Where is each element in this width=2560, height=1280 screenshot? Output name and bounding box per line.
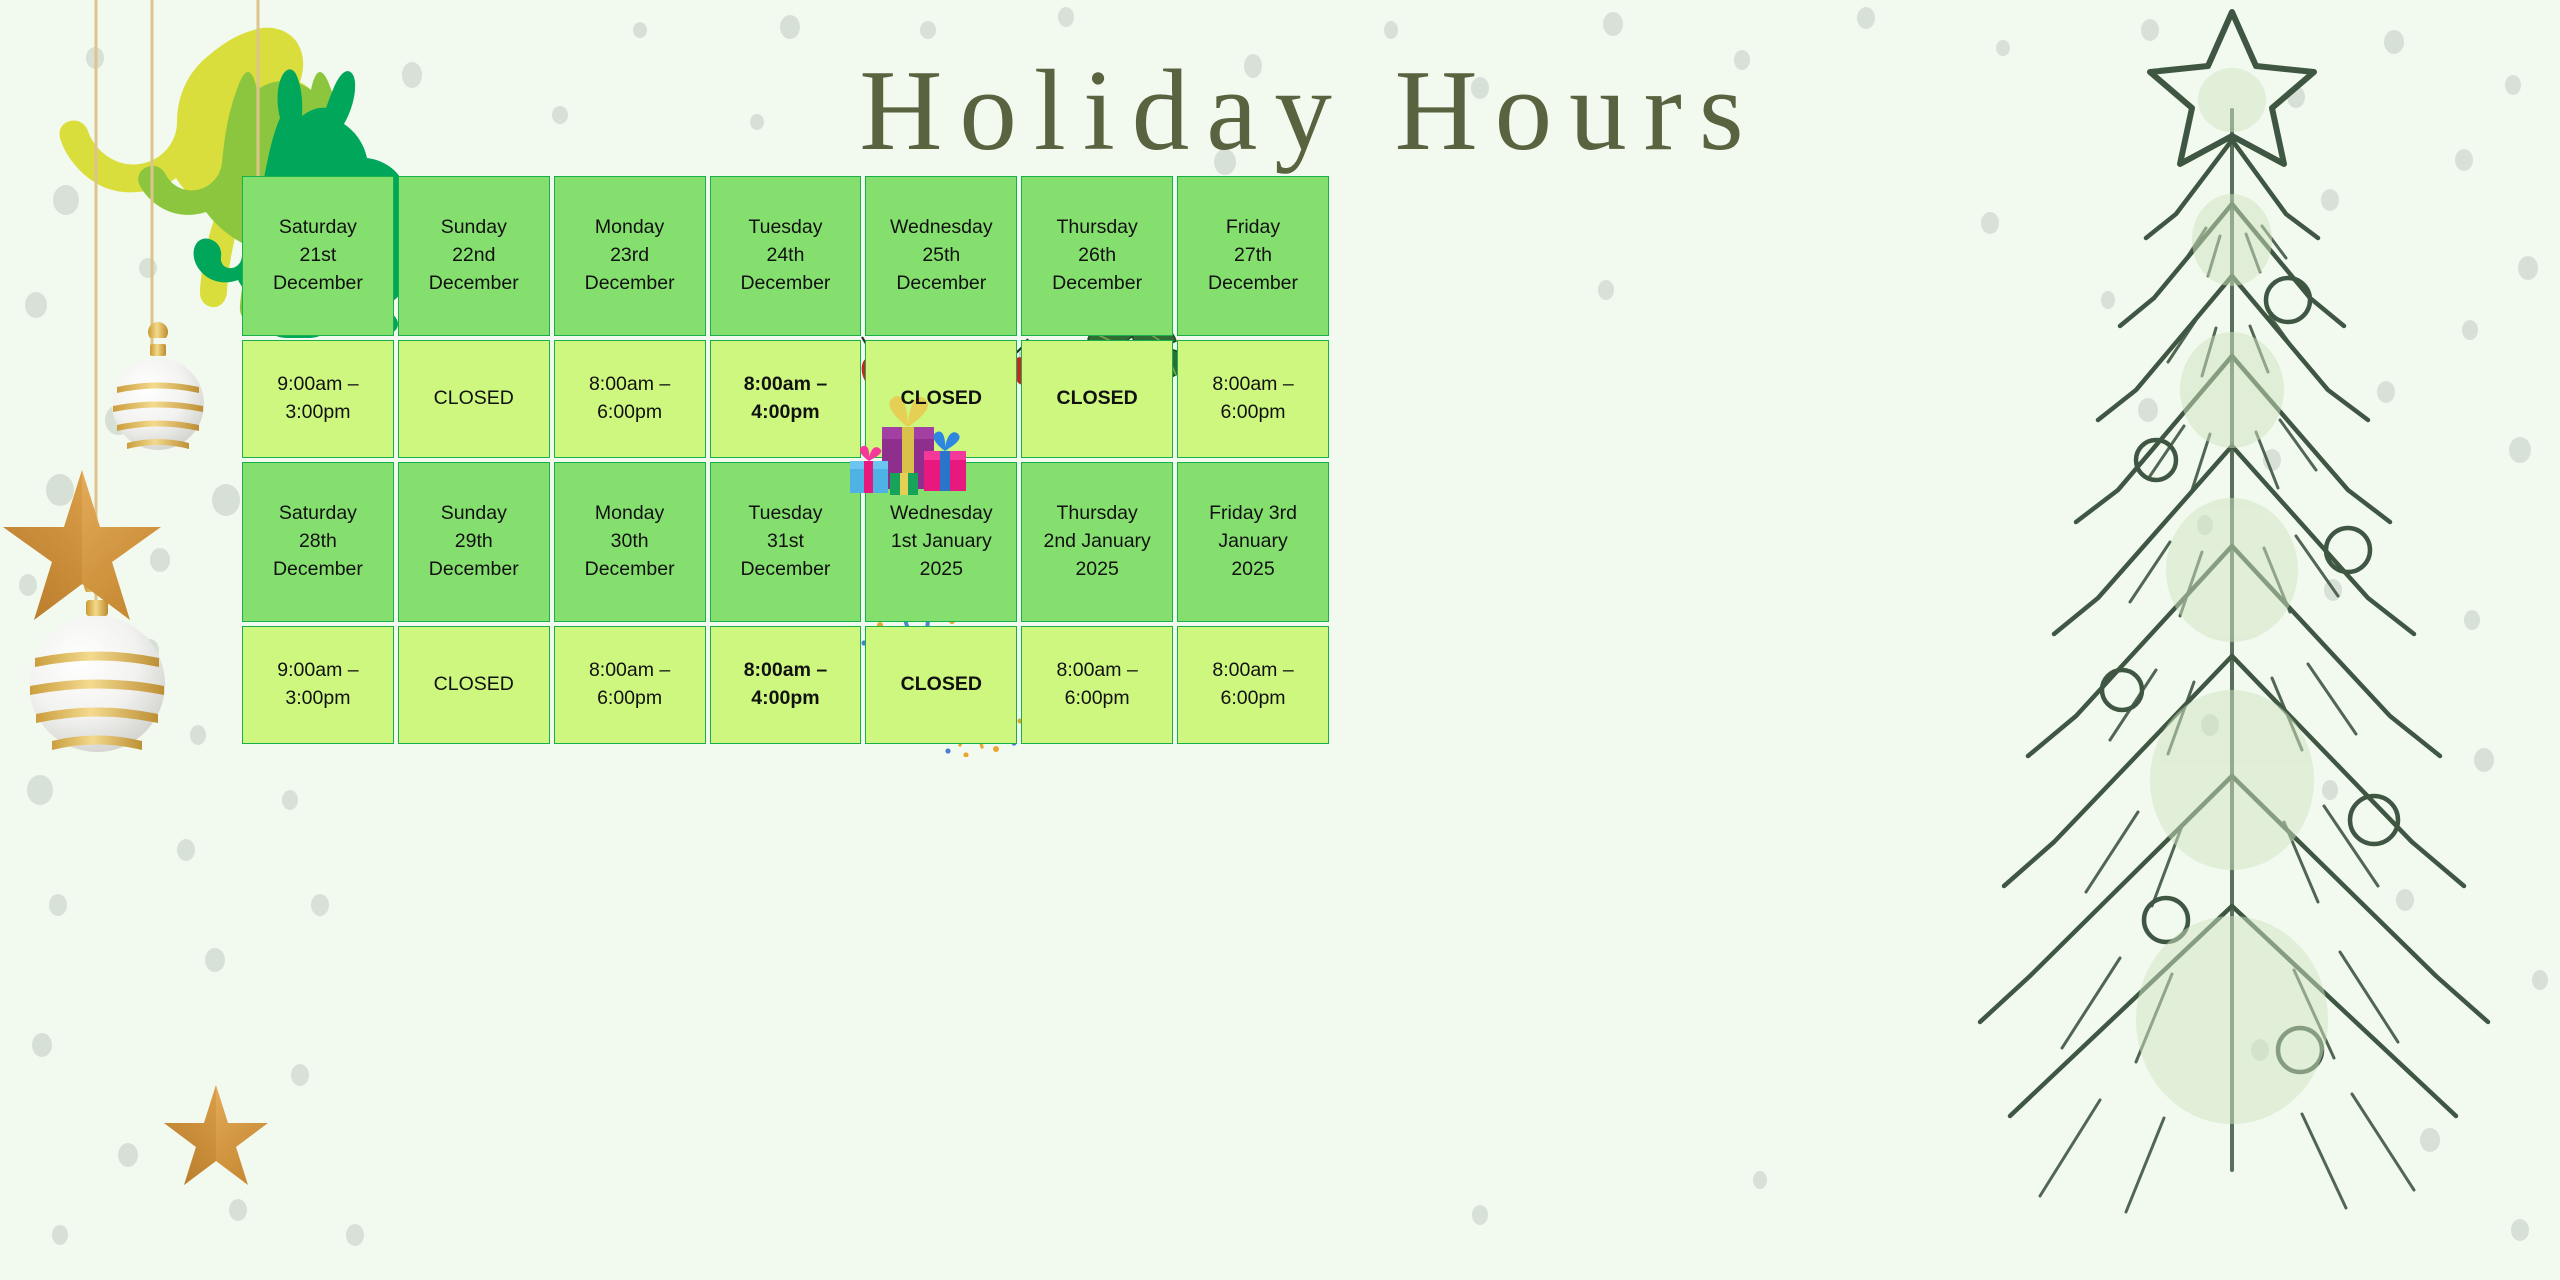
week1-date-row: Saturday21stDecember Sunday22ndDecember … — [242, 176, 1329, 336]
hours-label: CLOSED — [1057, 385, 1138, 413]
date-label: Tuesday31stDecember — [740, 500, 830, 583]
hours-label: 8:00am –6:00pm — [589, 371, 670, 426]
date-cell-tue-24-dec: Tuesday24thDecember — [710, 176, 862, 336]
date-label: Friday 3rdJanuary2025 — [1209, 500, 1297, 583]
holiday-hours-table-wrapper: Saturday21stDecember Sunday22ndDecember … — [238, 172, 1333, 737]
hanging-bauble-small — [112, 322, 204, 450]
gold-star-small — [164, 1085, 268, 1185]
hours-label: 8:00am –6:00pm — [589, 657, 670, 712]
hours-cell-mon-23-dec: 8:00am –6:00pm — [554, 340, 706, 458]
date-label: Thursday2nd January2025 — [1043, 500, 1150, 583]
date-cell-thu-26-dec: Thursday26thDecember — [1021, 176, 1173, 336]
hours-cell-sat-21-dec: 9:00am –3:00pm — [242, 340, 394, 458]
hours-cell-fri-3-jan: 8:00am –6:00pm — [1177, 626, 1329, 744]
hours-cell-thu-26-dec: CLOSED — [1021, 340, 1173, 458]
date-cell-thu-2-jan: Thursday2nd January2025 — [1021, 462, 1173, 622]
hours-cell-wed-25-dec: CLOSED — [865, 340, 1017, 458]
date-label: Saturday21stDecember — [273, 214, 363, 297]
holiday-hours-table: Saturday21stDecember Sunday22ndDecember … — [238, 172, 1333, 748]
gold-star-large — [3, 470, 161, 620]
hanging-bauble-large — [29, 572, 165, 752]
hours-cell-mon-30-dec: 8:00am –6:00pm — [554, 626, 706, 744]
date-label: Tuesday24thDecember — [740, 214, 830, 297]
date-label: Sunday22ndDecember — [429, 214, 519, 297]
date-label: Sunday29thDecember — [429, 500, 519, 583]
date-cell-fri-3-jan: Friday 3rdJanuary2025 — [1177, 462, 1329, 622]
hours-cell-tue-31-dec: 8:00am –4:00pm — [710, 626, 862, 744]
hours-cell-tue-24-dec: 8:00am –4:00pm — [710, 340, 862, 458]
date-cell-mon-30-dec: Monday30thDecember — [554, 462, 706, 622]
date-label: Monday23rdDecember — [585, 214, 675, 297]
date-label: Friday27thDecember — [1208, 214, 1298, 297]
date-cell-sat-21-dec: Saturday21stDecember — [242, 176, 394, 336]
date-label: Wednesday25thDecember — [890, 214, 993, 297]
page-title: Holiday Hours — [0, 52, 2560, 169]
date-cell-mon-23-dec: Monday23rdDecember — [554, 176, 706, 336]
date-cell-sun-29-dec: Sunday29thDecember — [398, 462, 550, 622]
hours-label: 8:00am –6:00pm — [1212, 657, 1293, 712]
date-label: Saturday28thDecember — [273, 500, 363, 583]
week1-hours-row: 9:00am –3:00pm CLOSED 8:00am –6:00pm 8:0… — [242, 340, 1329, 458]
date-cell-wed-25-dec: Wednesday25thDecember — [865, 176, 1017, 336]
hours-cell-sat-28-dec: 9:00am –3:00pm — [242, 626, 394, 744]
hours-label: CLOSED — [901, 385, 982, 413]
hours-label: 9:00am –3:00pm — [277, 371, 358, 426]
date-label: Monday30thDecember — [585, 500, 675, 583]
hours-cell-sun-29-dec: CLOSED — [398, 626, 550, 744]
hours-cell-wed-1-jan: CLOSED — [865, 626, 1017, 744]
week2-hours-row: 9:00am –3:00pm CLOSED 8:00am –6:00pm 8:0… — [242, 626, 1329, 744]
date-cell-fri-27-dec: Friday27thDecember — [1177, 176, 1329, 336]
hours-label: CLOSED — [901, 671, 982, 699]
date-cell-sun-22-dec: Sunday22ndDecember — [398, 176, 550, 336]
hours-label: 8:00am –6:00pm — [1212, 371, 1293, 426]
hours-label: 8:00am –6:00pm — [1056, 657, 1137, 712]
date-label: Thursday26thDecember — [1052, 214, 1142, 297]
hours-label: 9:00am –3:00pm — [277, 657, 358, 712]
hours-cell-sun-22-dec: CLOSED — [398, 340, 550, 458]
hours-label: CLOSED — [434, 671, 514, 699]
sketched-christmas-tree — [1970, 0, 2560, 1280]
hours-label: 8:00am –4:00pm — [744, 371, 827, 426]
date-cell-sat-28-dec: Saturday28thDecember — [242, 462, 394, 622]
week2-date-row: Saturday28thDecember Sunday29thDecember … — [242, 462, 1329, 622]
hours-label: CLOSED — [434, 385, 514, 413]
hours-cell-thu-2-jan: 8:00am –6:00pm — [1021, 626, 1173, 744]
date-label: Wednesday1st January2025 — [890, 500, 993, 583]
date-cell-tue-31-dec: Tuesday31stDecember — [710, 462, 862, 622]
hours-cell-fri-27-dec: 8:00am –6:00pm — [1177, 340, 1329, 458]
hours-label: 8:00am –4:00pm — [744, 657, 827, 712]
date-cell-wed-1-jan: Wednesday1st January2025 — [865, 462, 1017, 622]
